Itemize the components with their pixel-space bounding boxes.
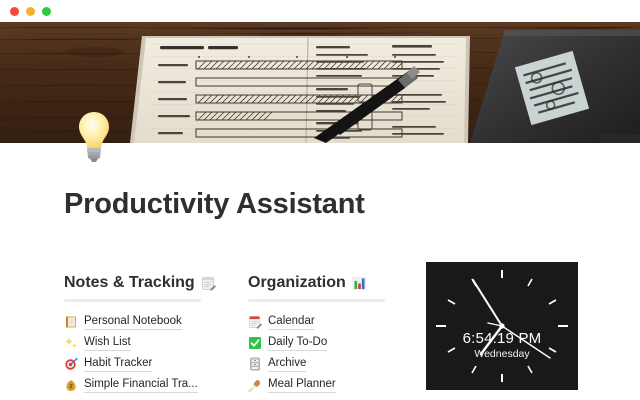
list-item[interactable]: Archive <box>248 353 398 374</box>
list-item[interactable]: Wish List <box>64 332 224 353</box>
section-title-organization: Organization <box>248 274 346 292</box>
analog-clock-widget: 6:54:19 PM Wednesday <box>426 262 578 390</box>
list-item[interactable]: Daily To-Do <box>248 332 398 353</box>
section-header-notes-tracking: Notes & Tracking <box>64 274 224 292</box>
file-cabinet-icon <box>248 357 262 371</box>
list-item-label[interactable]: Simple Financial Tra... <box>84 377 198 393</box>
sparkles-icon <box>64 336 78 350</box>
list-item-label[interactable]: Calendar <box>268 314 315 330</box>
dart-icon <box>64 357 78 371</box>
notebook-icon <box>64 315 78 329</box>
minimize-window-button[interactable] <box>26 7 35 16</box>
section-divider-notes <box>64 299 201 302</box>
money-bag-icon <box>64 378 78 392</box>
maximize-window-button[interactable] <box>42 7 51 16</box>
section-title-notes-tracking: Notes & Tracking <box>64 274 195 292</box>
list-notes-tracking: Personal Notebook Wish List <box>64 311 224 395</box>
poultry-leg-icon <box>248 378 262 392</box>
list-item[interactable]: Personal Notebook <box>64 311 224 332</box>
section-header-organization: Organization <box>248 274 398 292</box>
clock-time: 6:54:19 PM <box>426 330 578 347</box>
memo-icon <box>201 276 216 291</box>
check-mark-icon <box>248 336 262 350</box>
list-item-label[interactable]: Habit Tracker <box>84 356 152 372</box>
section-notes-tracking: Notes & Tracking <box>64 274 224 395</box>
list-item[interactable]: Habit Tracker <box>64 353 224 374</box>
clock-day: Wednesday <box>426 348 578 360</box>
app-window: Productivity Assistant Notes & Tracking <box>0 0 640 400</box>
list-item[interactable]: Simple Financial Tra... <box>64 374 224 395</box>
window-titlebar <box>0 0 640 22</box>
section-divider-organization <box>248 299 385 302</box>
bar-chart-icon <box>352 276 367 291</box>
calendar-icon <box>248 315 262 329</box>
list-item-label[interactable]: Wish List <box>84 335 131 351</box>
list-item-label[interactable]: Meal Planner <box>268 377 336 393</box>
list-organization: Calendar Daily To-Do <box>248 311 398 395</box>
list-item[interactable]: Meal Planner <box>248 374 398 395</box>
hero-banner-image <box>0 22 640 143</box>
section-organization: Organization <box>248 274 398 395</box>
list-item-label[interactable]: Archive <box>268 356 306 372</box>
list-item-label[interactable]: Personal Notebook <box>84 314 182 330</box>
list-item[interactable]: Calendar <box>248 311 398 332</box>
list-item-label[interactable]: Daily To-Do <box>268 335 327 351</box>
page-title: Productivity Assistant <box>64 188 365 221</box>
close-window-button[interactable] <box>10 7 19 16</box>
